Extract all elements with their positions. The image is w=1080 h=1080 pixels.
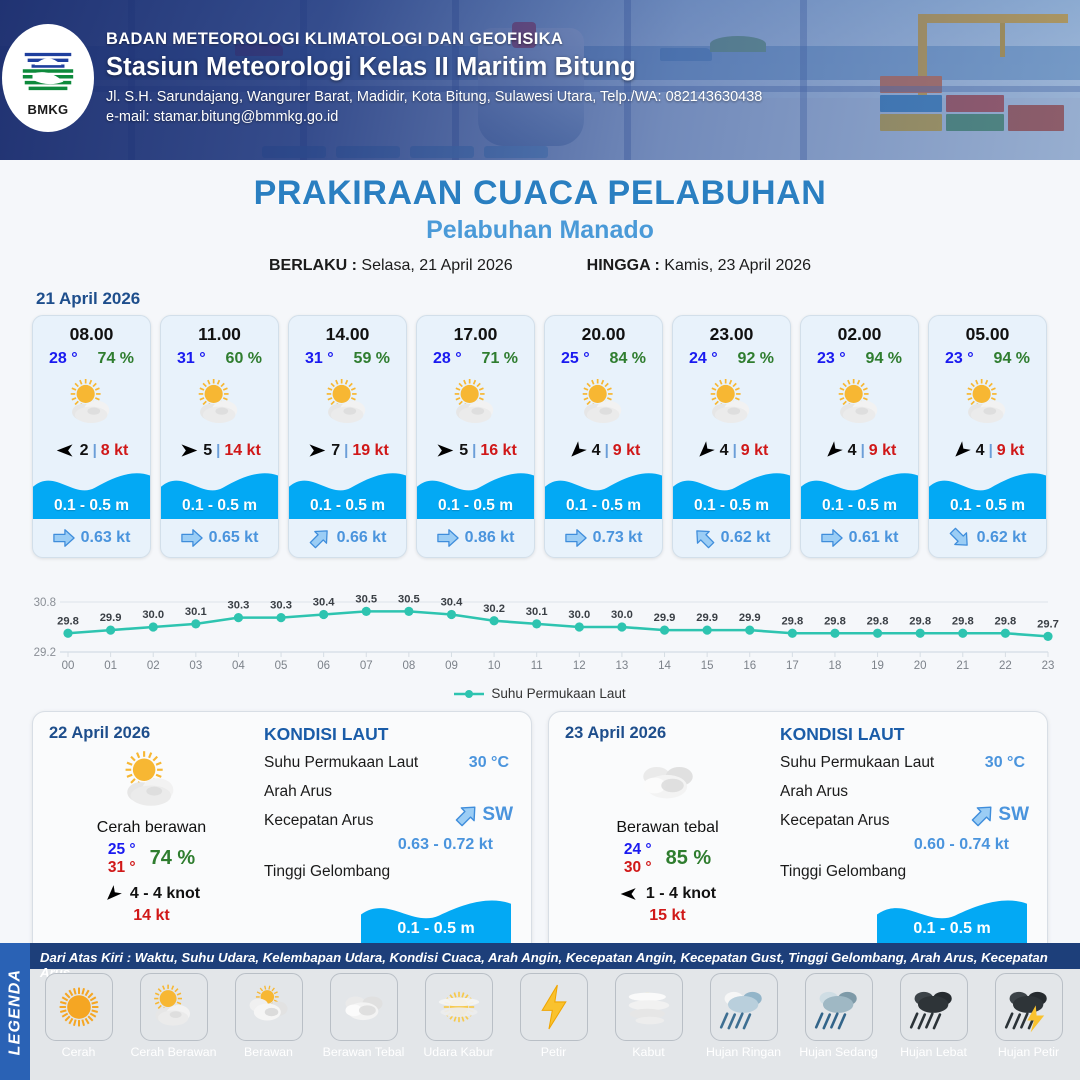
svg-text:29.8: 29.8 — [995, 615, 1017, 627]
forecast-day-label: 21 April 2026 — [36, 289, 1080, 309]
card-wind-row: 4 | 9 kt — [673, 440, 790, 461]
legend-items-row: Cerah Cerah Berawan Berawan Berawan Teba… — [34, 973, 1076, 1059]
outlook-wind-text: 1 - 4 knot — [646, 885, 716, 903]
card-current-row: 0.86 kt — [417, 527, 534, 549]
wind-direction-icon — [434, 440, 455, 461]
current-direction-icon — [304, 522, 335, 553]
current-direction-icon — [565, 527, 587, 549]
card-wave-height: 0.1 - 0.5 m — [417, 497, 534, 515]
forecast-card[interactable]: 20.00 25 ° 84 % 4 | 9 kt 0.1 - 0.5 m — [544, 315, 663, 558]
card-wind-row: 5 | 14 kt — [161, 440, 278, 461]
outlook-sst-label: Suhu Permukaan Laut — [264, 754, 418, 771]
legend-item: Udara Kabur — [414, 973, 503, 1059]
outlook-gust: 15 kt — [565, 907, 770, 925]
outlook-condition: Cerah berawan — [49, 819, 254, 837]
cloud-sun-partial-icon — [242, 980, 296, 1034]
card-wind-speed: 4 — [848, 442, 857, 460]
chart-legend-label: Suhu Permukaan Laut — [491, 686, 625, 701]
svg-text:11: 11 — [531, 660, 543, 672]
legend-item: Petir — [509, 973, 598, 1059]
forecast-card[interactable]: 14.00 31 ° 59 % 7 | 19 kt 0.1 - 0.5 m — [288, 315, 407, 558]
card-temperature: 23 ° — [817, 350, 846, 368]
card-humidity: 71 % — [482, 350, 518, 368]
svg-text:17: 17 — [786, 660, 799, 672]
infographic-page: BMKG BADAN METEOROLOGI KLIMATOLOGI DAN G… — [0, 0, 1080, 1080]
outlook-sst-label: Suhu Permukaan Laut — [780, 754, 934, 771]
card-wind-speed: 4 — [976, 442, 985, 460]
legend-item-label: Hujan Sedang — [799, 1045, 878, 1059]
svg-text:30.0: 30.0 — [142, 609, 164, 621]
svg-text:02: 02 — [147, 660, 160, 672]
card-temp-humidity: 25 ° 84 % — [545, 350, 662, 368]
bmkg-logo-text: BMKG — [28, 102, 69, 117]
svg-text:09: 09 — [445, 660, 458, 672]
wind-direction-icon — [818, 436, 848, 466]
outlook-wave-label: Tinggi Gelombang — [264, 863, 390, 880]
outlook-current-dir-row: Arah Arus SW — [264, 783, 515, 803]
outlook-current-speed-row: Kecepatan Arus — [264, 812, 515, 832]
card-time: 05.00 — [929, 324, 1046, 345]
card-humidity: 84 % — [610, 350, 646, 368]
svg-text:10: 10 — [488, 660, 501, 672]
card-wave-height: 0.1 - 0.5 m — [673, 497, 790, 515]
svg-text:30.4: 30.4 — [313, 597, 336, 609]
card-temp-humidity: 31 ° 59 % — [289, 350, 406, 368]
outlook-current-dir-label: Arah Arus — [780, 783, 848, 800]
svg-text:13: 13 — [616, 660, 629, 672]
legend-item-label: Hujan Lebat — [900, 1045, 967, 1059]
sun-icon — [52, 980, 106, 1034]
berlaku-block: BERLAKU : Selasa, 21 April 2026 — [269, 257, 513, 275]
svg-text:29.8: 29.8 — [824, 615, 846, 627]
legend-icon-box — [615, 973, 683, 1041]
card-temperature: 24 ° — [689, 350, 718, 368]
card-humidity: 74 % — [98, 350, 134, 368]
card-weather-icon — [161, 372, 278, 434]
outlook-right: KONDISI LAUT Suhu Permukaan Laut 30 °C A… — [770, 724, 1031, 952]
page-subtitle: Pelabuhan Manado — [0, 216, 1080, 245]
card-wind-speed: 4 — [592, 442, 601, 460]
hingga-value: Kamis, 23 April 2026 — [664, 257, 811, 274]
card-gust: 9 kt — [741, 442, 769, 460]
outlook-temp-max: 31 ° — [108, 859, 136, 877]
forecast-card[interactable]: 17.00 28 ° 71 % 5 | 16 kt 0.1 - 0.5 m — [416, 315, 535, 558]
card-temperature: 31 ° — [305, 350, 334, 368]
legend-item: Hujan Lebat — [889, 973, 978, 1059]
cloud-heavy-icon — [337, 980, 391, 1034]
card-weather-icon — [673, 372, 790, 434]
outlook-date: 22 April 2026 — [49, 724, 254, 743]
outlook-gust: 14 kt — [49, 907, 254, 925]
legend-icon-box — [805, 973, 873, 1041]
card-current-speed: 0.61 kt — [849, 529, 899, 547]
outlook-left: 23 April 2026 Berawan tebal 24 ° 30 ° 85… — [565, 724, 770, 952]
card-separator: | — [989, 442, 993, 459]
card-time: 23.00 — [673, 324, 790, 345]
card-temperature: 28 ° — [49, 350, 78, 368]
legend-item-label: Cerah — [62, 1045, 96, 1059]
hingga-label: HINGGA : — [587, 257, 660, 274]
outlook-wind-row: 4 - 4 knot — [49, 884, 254, 904]
svg-text:22: 22 — [999, 660, 1012, 672]
card-wind-speed: 2 — [80, 442, 89, 460]
current-direction-icon — [688, 522, 719, 553]
outlook-sea-title: KONDISI LAUT — [780, 724, 1031, 745]
outlook-date: 23 April 2026 — [565, 724, 770, 743]
svg-text:30.2: 30.2 — [483, 603, 505, 615]
card-weather-icon — [289, 372, 406, 434]
legend-item-label: Hujan Ringan — [706, 1045, 781, 1059]
svg-text:30.1: 30.1 — [526, 606, 548, 618]
outlook-wave-row: Tinggi Gelombang — [780, 863, 1031, 883]
station-name: Stasiun Meteorologi Kelas II Maritim Bit… — [106, 53, 762, 82]
card-wind-speed: 5 — [203, 442, 212, 460]
lightning-icon — [527, 980, 581, 1034]
outlook-wind-row: 1 - 4 knot — [565, 884, 770, 904]
card-separator: | — [472, 442, 476, 459]
legend-item-label: Hujan Petir — [998, 1045, 1059, 1059]
legend-icon-box — [995, 973, 1063, 1041]
card-separator: | — [93, 442, 97, 459]
legend-icon-box — [140, 973, 208, 1041]
outlook-sea-title: KONDISI LAUT — [264, 724, 515, 745]
card-wind-row: 5 | 16 kt — [417, 440, 534, 461]
sst-chart: 30.829.229.80029.90130.00230.10330.30430… — [20, 572, 1060, 684]
outlook-humidity: 74 % — [150, 847, 196, 870]
svg-text:29.9: 29.9 — [100, 612, 122, 624]
card-current-speed: 0.65 kt — [209, 529, 259, 547]
svg-text:20: 20 — [914, 660, 927, 672]
svg-text:06: 06 — [317, 660, 330, 672]
svg-text:30.8: 30.8 — [34, 597, 56, 609]
legend-item-label: Petir — [541, 1045, 566, 1059]
validity-row: BERLAKU : Selasa, 21 April 2026 HINGGA :… — [0, 257, 1080, 275]
legend-item: Berawan Tebal — [319, 973, 408, 1059]
card-current-speed: 0.62 kt — [721, 529, 771, 547]
outlook-right: KONDISI LAUT Suhu Permukaan Laut 30 °C A… — [254, 724, 515, 952]
card-separator: | — [216, 442, 220, 459]
svg-text:30.5: 30.5 — [355, 593, 377, 605]
svg-text:29.9: 29.9 — [739, 612, 761, 624]
legend-icon-box — [425, 973, 493, 1041]
outlook-wave-value: 0.1 - 0.5 m — [361, 920, 511, 938]
forecast-card[interactable]: 11.00 31 ° 60 % 5 | 14 kt 0.1 - 0.5 m — [160, 315, 279, 558]
outlook-temps: 24 ° 30 ° 85 % — [565, 841, 770, 877]
svg-text:04: 04 — [232, 660, 245, 672]
legend-icon-box — [900, 973, 968, 1041]
svg-text:30.4: 30.4 — [441, 597, 464, 609]
svg-text:29.8: 29.8 — [57, 615, 79, 627]
header-banner: BMKG BADAN METEOROLOGI KLIMATOLOGI DAN G… — [0, 0, 1080, 160]
card-humidity: 94 % — [994, 350, 1030, 368]
card-gust: 16 kt — [480, 442, 516, 460]
card-humidity: 92 % — [738, 350, 774, 368]
outlook-sst-value: 30 °C — [469, 754, 509, 772]
svg-text:18: 18 — [829, 660, 842, 672]
sun-cloud-icon — [63, 374, 121, 432]
card-wind-row: 4 | 9 kt — [929, 440, 1046, 461]
legend-item: Kabut — [604, 973, 693, 1059]
card-separator: | — [733, 442, 737, 459]
card-current-row: 0.65 kt — [161, 527, 278, 549]
outlook-sst-row: Suhu Permukaan Laut 30 °C — [264, 754, 515, 774]
forecast-card[interactable]: 05.00 23 ° 94 % 4 | 9 kt 0.1 - 0.5 m — [928, 315, 1047, 558]
card-wind-row: 7 | 19 kt — [289, 440, 406, 461]
card-temp-humidity: 23 ° 94 % — [929, 350, 1046, 368]
card-temp-humidity: 31 ° 60 % — [161, 350, 278, 368]
sun-cloud-icon — [447, 374, 505, 432]
card-temp-humidity: 28 ° 74 % — [33, 350, 150, 368]
light-rain-icon — [717, 980, 771, 1034]
card-current-row: 0.62 kt — [929, 527, 1046, 549]
sun-cloud-icon — [319, 374, 377, 432]
svg-text:14: 14 — [658, 660, 671, 672]
card-temp-humidity: 28 ° 71 % — [417, 350, 534, 368]
outlook-sst-value: 30 °C — [985, 754, 1025, 772]
card-humidity: 94 % — [866, 350, 902, 368]
svg-text:29.7: 29.7 — [1037, 618, 1059, 630]
card-time: 14.00 — [289, 324, 406, 345]
outlook-weather-icon — [49, 747, 254, 815]
wind-direction-icon — [946, 436, 976, 466]
outlook-panel[interactable]: 22 April 2026 Cerah berawan 25 ° 31 ° 74… — [32, 711, 532, 963]
outlook-left: 22 April 2026 Cerah berawan 25 ° 31 ° 74… — [49, 724, 254, 952]
chart-legend: Suhu Permukaan Laut — [0, 686, 1080, 701]
cloud-heavy-icon — [632, 745, 704, 817]
svg-text:00: 00 — [62, 660, 75, 672]
wind-direction-icon — [690, 436, 720, 466]
forecast-card[interactable]: 02.00 23 ° 94 % 4 | 9 kt 0.1 - 0.5 m — [800, 315, 919, 558]
outlook-temp-range: 24 ° 30 ° — [624, 841, 652, 877]
outlook-wind-text: 4 - 4 knot — [130, 885, 200, 903]
sun-cloud-icon — [191, 374, 249, 432]
outlook-temp-max: 30 ° — [624, 859, 652, 877]
card-wind-row: 2 | 8 kt — [33, 440, 150, 461]
card-temperature: 25 ° — [561, 350, 590, 368]
current-direction-icon — [181, 527, 203, 549]
card-current-speed: 0.63 kt — [81, 529, 131, 547]
outlook-condition: Berawan tebal — [565, 819, 770, 837]
svg-text:29.8: 29.8 — [781, 615, 803, 627]
card-wave-height: 0.1 - 0.5 m — [545, 497, 662, 515]
wind-direction-icon — [306, 440, 327, 461]
hingga-block: HINGGA : Kamis, 23 April 2026 — [587, 257, 811, 275]
fog-icon — [622, 980, 676, 1034]
card-current-speed: 0.66 kt — [337, 529, 387, 547]
card-time: 17.00 — [417, 324, 534, 345]
wind-direction-icon — [99, 879, 127, 907]
legend-side-tab: LEGENDA — [0, 943, 30, 1080]
forecast-cards-row: 08.00 28 ° 74 % 2 | 8 kt 0.1 - 0.5 m — [0, 315, 1080, 558]
card-weather-icon — [545, 372, 662, 434]
legend-icon-box — [45, 973, 113, 1041]
card-current-row: 0.61 kt — [801, 527, 918, 549]
svg-text:29.8: 29.8 — [909, 615, 931, 627]
wind-direction-icon — [55, 440, 76, 461]
card-wind-row: 4 | 9 kt — [801, 440, 918, 461]
svg-text:30.3: 30.3 — [270, 600, 292, 612]
card-gust: 9 kt — [869, 442, 897, 460]
outlook-temp-range: 25 ° 31 ° — [108, 841, 136, 877]
card-time: 11.00 — [161, 324, 278, 345]
card-weather-icon — [801, 372, 918, 434]
outlook-wave-row: Tinggi Gelombang — [264, 863, 515, 883]
outlook-temp-min: 24 ° — [624, 841, 652, 859]
card-time: 20.00 — [545, 324, 662, 345]
berlaku-value: Selasa, 21 April 2026 — [361, 257, 512, 274]
outlook-current-speed-label: Kecepatan Arus — [780, 812, 889, 829]
thunderstorm-rain-icon — [1002, 980, 1056, 1034]
sun-cloud-icon — [147, 980, 201, 1034]
forecast-card[interactable]: 08.00 28 ° 74 % 2 | 8 kt 0.1 - 0.5 m — [32, 315, 151, 558]
svg-text:30.3: 30.3 — [228, 600, 250, 612]
legend-icon-box — [710, 973, 778, 1041]
card-current-row: 0.63 kt — [33, 527, 150, 549]
legend-icon-box — [520, 973, 588, 1041]
card-gust: 9 kt — [613, 442, 641, 460]
outlook-current-speed-value: 0.63 - 0.72 kt — [264, 836, 515, 854]
outlook-current-dir-row: Arah Arus SW — [780, 783, 1031, 803]
sun-cloud-icon — [703, 374, 761, 432]
svg-text:16: 16 — [743, 660, 756, 672]
svg-text:30.0: 30.0 — [611, 609, 633, 621]
card-temp-humidity: 24 ° 92 % — [673, 350, 790, 368]
legend-item: Berawan — [224, 973, 313, 1059]
current-direction-icon — [437, 527, 459, 549]
svg-text:30.0: 30.0 — [568, 609, 590, 621]
svg-text:07: 07 — [360, 660, 373, 672]
bmkg-logo: BMKG — [2, 24, 94, 132]
page-title: PRAKIRAAN CUACA PELABUHAN — [0, 174, 1080, 213]
svg-text:30.1: 30.1 — [185, 606, 207, 618]
sun-cloud-icon — [116, 745, 188, 817]
legend-item: Hujan Ringan — [699, 973, 788, 1059]
card-separator: | — [605, 442, 609, 459]
sun-cloud-icon — [831, 374, 889, 432]
card-separator: | — [861, 442, 865, 459]
legend-icon-box — [330, 973, 398, 1041]
agency-name: BADAN METEOROLOGI KLIMATOLOGI DAN GEOFIS… — [106, 30, 762, 49]
haze-icon — [432, 980, 486, 1034]
card-time: 08.00 — [33, 324, 150, 345]
svg-text:21: 21 — [956, 660, 969, 672]
outlook-temp-min: 25 ° — [108, 841, 136, 859]
forecast-card[interactable]: 23.00 24 ° 92 % 4 | 9 kt 0.1 - 0.5 m — [672, 315, 791, 558]
card-temperature: 28 ° — [433, 350, 462, 368]
card-current-row: 0.66 kt — [289, 527, 406, 549]
legend-item-label: Cerah Berawan — [130, 1045, 216, 1059]
legend-bar: LEGENDA Dari Atas Kiri : Waktu, Suhu Uda… — [0, 943, 1080, 1080]
card-wave-height: 0.1 - 0.5 m — [289, 497, 406, 515]
card-wind-row: 4 | 9 kt — [545, 440, 662, 461]
legend-side-label: LEGENDA — [6, 968, 24, 1055]
legend-icon-box — [235, 973, 303, 1041]
card-wind-speed: 4 — [720, 442, 729, 460]
card-wave-height: 0.1 - 0.5 m — [161, 497, 278, 515]
outlook-current-speed-label: Kecepatan Arus — [264, 812, 373, 829]
card-gust: 8 kt — [101, 442, 129, 460]
card-humidity: 59 % — [354, 350, 390, 368]
sst-chart-svg: 30.829.229.80029.90130.00230.10330.30430… — [20, 572, 1060, 676]
svg-text:12: 12 — [573, 660, 586, 672]
legend-item-label: Udara Kabur — [423, 1045, 493, 1059]
card-separator: | — [344, 442, 348, 459]
card-wave-height: 0.1 - 0.5 m — [33, 497, 150, 515]
outlook-current-speed-value: 0.60 - 0.74 kt — [780, 836, 1031, 854]
outlook-humidity: 85 % — [666, 847, 712, 870]
legend-item: Hujan Petir — [984, 973, 1073, 1059]
card-gust: 14 kt — [224, 442, 260, 460]
outlook-panels-row: 22 April 2026 Cerah berawan 25 ° 31 ° 74… — [0, 701, 1080, 963]
card-current-row: 0.73 kt — [545, 527, 662, 549]
current-direction-icon — [53, 527, 75, 549]
card-current-speed: 0.62 kt — [977, 529, 1027, 547]
station-address: Jl. S.H. Sarundajang, Wangurer Barat, Ma… — [106, 89, 762, 105]
svg-text:01: 01 — [104, 660, 117, 672]
card-temp-humidity: 23 ° 94 % — [801, 350, 918, 368]
heavy-rain-icon — [907, 980, 961, 1034]
svg-text:19: 19 — [871, 660, 884, 672]
berlaku-label: BERLAKU : — [269, 257, 357, 274]
legend-item: Cerah Berawan — [129, 973, 218, 1059]
card-temperature: 23 ° — [945, 350, 974, 368]
chart-legend-marker-icon — [454, 689, 484, 699]
card-wave-height: 0.1 - 0.5 m — [801, 497, 918, 515]
svg-text:15: 15 — [701, 660, 714, 672]
card-time: 02.00 — [801, 324, 918, 345]
current-direction-icon — [944, 522, 975, 553]
card-humidity: 60 % — [226, 350, 262, 368]
card-current-speed: 0.73 kt — [593, 529, 643, 547]
svg-text:30.5: 30.5 — [398, 593, 420, 605]
card-wind-speed: 5 — [459, 442, 468, 460]
svg-text:05: 05 — [275, 660, 288, 672]
wind-direction-icon — [619, 884, 639, 904]
legend-item: Cerah — [34, 973, 123, 1059]
station-email: e-mail: stamar.bitung@bmmkg.go.id — [106, 109, 762, 125]
outlook-current-speed-row: Kecepatan Arus — [780, 812, 1031, 832]
svg-text:29.9: 29.9 — [654, 612, 676, 624]
card-wind-speed: 7 — [331, 442, 340, 460]
header-text-block: BADAN METEOROLOGI KLIMATOLOGI DAN GEOFIS… — [106, 30, 762, 125]
svg-text:08: 08 — [402, 660, 415, 672]
outlook-temps: 25 ° 31 ° 74 % — [49, 841, 254, 877]
sun-cloud-icon — [959, 374, 1017, 432]
legend-item-label: Kabut — [632, 1045, 664, 1059]
wind-direction-icon — [562, 436, 592, 466]
current-direction-icon — [821, 527, 843, 549]
card-gust: 19 kt — [352, 442, 388, 460]
svg-text:29.2: 29.2 — [34, 647, 56, 659]
legend-item-label: Berawan — [244, 1045, 293, 1059]
card-weather-icon — [33, 372, 150, 434]
svg-text:03: 03 — [189, 660, 202, 672]
legend-item: Hujan Sedang — [794, 973, 883, 1059]
card-weather-icon — [417, 372, 534, 434]
outlook-current-dir-label: Arah Arus — [264, 783, 332, 800]
sun-cloud-icon — [575, 374, 633, 432]
outlook-wave-label: Tinggi Gelombang — [780, 863, 906, 880]
outlook-panel[interactable]: 23 April 2026 Berawan tebal 24 ° 30 ° 85… — [548, 711, 1048, 963]
moderate-rain-icon — [812, 980, 866, 1034]
legend-item-label: Berawan Tebal — [323, 1045, 405, 1059]
svg-text:29.9: 29.9 — [696, 612, 718, 624]
card-temperature: 31 ° — [177, 350, 206, 368]
bmkg-logo-mark — [17, 39, 79, 101]
card-current-row: 0.62 kt — [673, 527, 790, 549]
card-wave-height: 0.1 - 0.5 m — [929, 497, 1046, 515]
svg-text:29.8: 29.8 — [867, 615, 889, 627]
